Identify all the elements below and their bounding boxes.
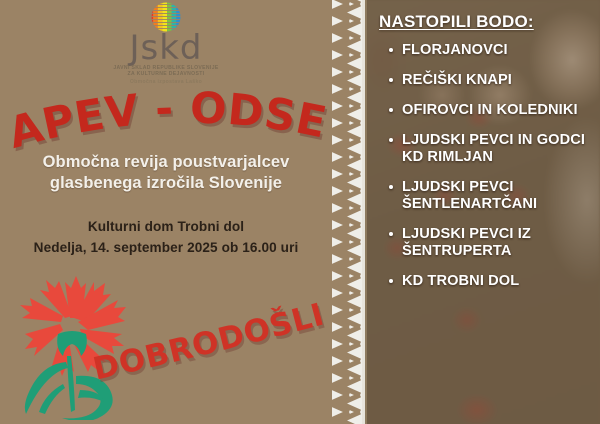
welcome-text: DOBRODOŠLI! DOBRODOŠLI! [100, 318, 332, 408]
jskd-tagline-line2: ZA KULTURNE DEJAVNOSTI [113, 71, 218, 77]
poster-subtitle: Območna revija poustvarjalcev glasbenega… [0, 152, 332, 194]
performers-content: NASTOPILI BODO: FLORJANOVCIREČIŠKI KNAPI… [367, 0, 600, 424]
jskd-tagline: JAVNI SKLAD REPUBLIKE SLOVENIJE ZA KULTU… [113, 65, 218, 85]
performers-panel: NASTOPILI BODO: FLORJANOVCIREČIŠKI KNAPI… [367, 0, 600, 424]
chevron-divider [332, 0, 362, 424]
poster-subtitle-line2: glasbenega izročila Slovenije [0, 173, 332, 194]
performer-item: FLORJANOVCI [389, 42, 592, 59]
event-details: Kulturni dom Trobni dol Nedelja, 14. sep… [0, 216, 332, 258]
poster-canvas: Jskd JAVNI SKLAD REPUBLIKE SLOVENIJE ZA … [0, 0, 600, 424]
jskd-rainbow-mark-icon [144, 2, 188, 32]
performer-item: LJUDSKI PEVCI IZ ŠENTRUPERTA [389, 226, 592, 260]
performers-heading: NASTOPILI BODO: [379, 12, 592, 32]
jskd-logo: Jskd JAVNI SKLAD REPUBLIKE SLOVENIJE ZA … [0, 2, 332, 85]
performer-item: REČIŠKI KNAPI [389, 72, 592, 89]
event-venue: Kulturni dom Trobni dol [0, 216, 332, 237]
performer-item: LJUDSKI PEVCI ŠENTLENARTČANI [389, 179, 592, 213]
performer-item: LJUDSKI PEVCI IN GODCI KD RIMLJAN [389, 132, 592, 166]
left-panel: Jskd JAVNI SKLAD REPUBLIKE SLOVENIJE ZA … [0, 0, 332, 424]
poster-title: NAPEV - ODSEV NAPEV - ODSEV [0, 96, 332, 158]
event-datetime: Nedelja, 14. september 2025 ob 16.00 uri [0, 237, 332, 258]
jskd-wordmark: Jskd [129, 33, 202, 63]
poster-subtitle-line1: Območna revija poustvarjalcev [0, 152, 332, 173]
performer-item: KD TROBNI DOL [389, 273, 592, 290]
performers-list: FLORJANOVCIREČIŠKI KNAPIOFIROVCI IN KOLE… [377, 42, 592, 290]
performer-item: OFIROVCI IN KOLEDNIKI [389, 102, 592, 119]
